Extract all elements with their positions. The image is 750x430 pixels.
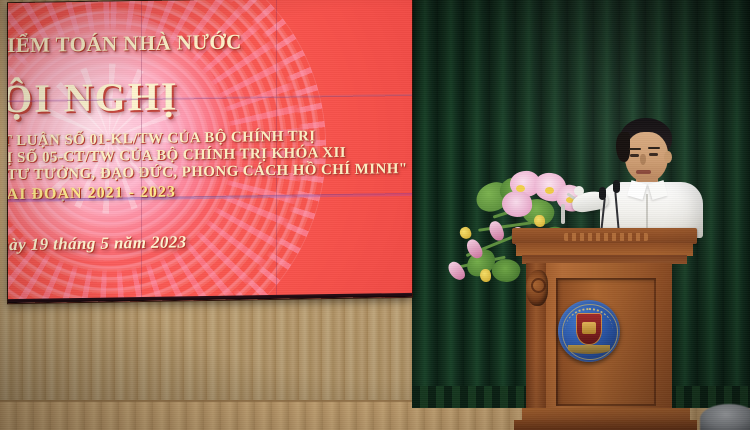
lamp-stem — [561, 204, 565, 224]
state-audit-office-emblem — [558, 300, 620, 362]
microphone-gooseneck — [614, 192, 619, 230]
podium-equipment-group — [560, 170, 670, 232]
emblem-bottom-banner — [568, 345, 610, 354]
speaker-eye-right — [649, 153, 658, 156]
lamp-knob — [574, 186, 584, 196]
lotus-bloom-center — [545, 187, 554, 194]
speaker-eyebrow-right — [648, 147, 660, 149]
microphone-head — [613, 180, 620, 193]
lotus-seed-pod — [458, 225, 472, 240]
lotus-seed-pod — [534, 215, 545, 227]
lotus-seed-pod — [480, 269, 491, 282]
speaker-ear — [664, 151, 672, 163]
audience-member-head — [700, 404, 750, 430]
lotus-bloom-center — [516, 185, 525, 192]
speaker-nose — [640, 154, 646, 165]
speaker-podium — [512, 228, 697, 430]
emblem-center-glyph — [582, 322, 596, 334]
speaker-hair-sideburn — [616, 132, 630, 162]
speaker-eye-left — [630, 154, 639, 157]
led-panel-seams — [8, 0, 412, 303]
conference-photo-scene: Y KIỂM TOÁN NHÀ NƯỚC HỘI NGHỊ N KẾT LUẬN… — [0, 0, 750, 430]
speaker-eyebrow-left — [629, 148, 641, 150]
led-banner-screen: Y KIỂM TOÁN NHÀ NƯỚC HỘI NGHỊ N KẾT LUẬN… — [8, 0, 412, 303]
lotus-bud — [446, 259, 468, 283]
podium-plinth — [514, 420, 697, 430]
podium-scroll-carving-inner — [531, 278, 546, 293]
podium-carved-trim — [564, 233, 648, 241]
microphone-head — [599, 187, 606, 200]
